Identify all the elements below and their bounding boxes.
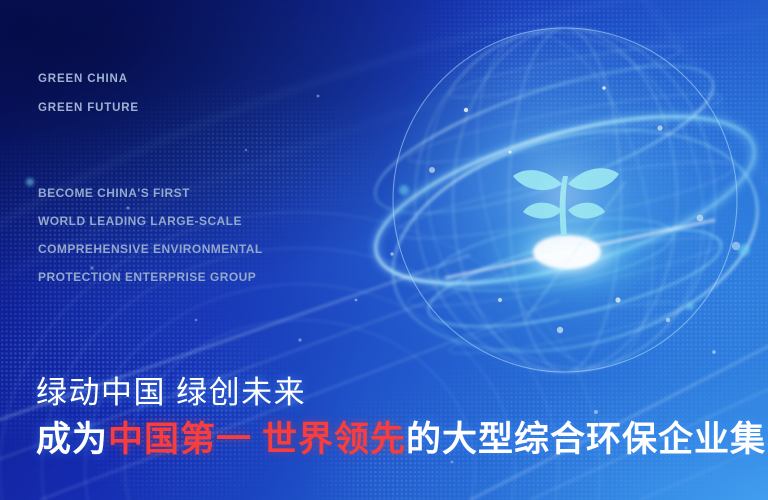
headline-highlight-2: 世界领先 xyxy=(262,420,406,459)
subtitle-line-2: WORLD LEADING LARGE-SCALE xyxy=(38,214,242,228)
eyebrow-line-1: GREEN CHINA xyxy=(38,73,128,85)
headline-line-1: 绿动中国 绿创未来 xyxy=(36,367,306,412)
subtitle-line-3: COMPREHENSIVE ENVIRONMENTAL xyxy=(38,242,263,256)
subtitle-line-4: PROTECTION ENTERPRISE GROUP xyxy=(38,270,256,284)
headline-line-2: 成为中国第一世界领先的大型综合环保企业集团 xyxy=(36,411,768,462)
eyebrow-line-2: GREEN FUTURE xyxy=(38,102,139,114)
hero-banner: GREEN CHINA GREEN FUTURE BECOME CHINA'S … xyxy=(0,0,768,500)
headline-highlight-1: 中国第一 xyxy=(108,420,252,459)
headline-suffix: 的大型综合环保企业集团 xyxy=(406,420,768,459)
headline-prefix: 成为 xyxy=(36,420,108,459)
subtitle-line-1: BECOME CHINA'S FIRST xyxy=(38,186,190,200)
